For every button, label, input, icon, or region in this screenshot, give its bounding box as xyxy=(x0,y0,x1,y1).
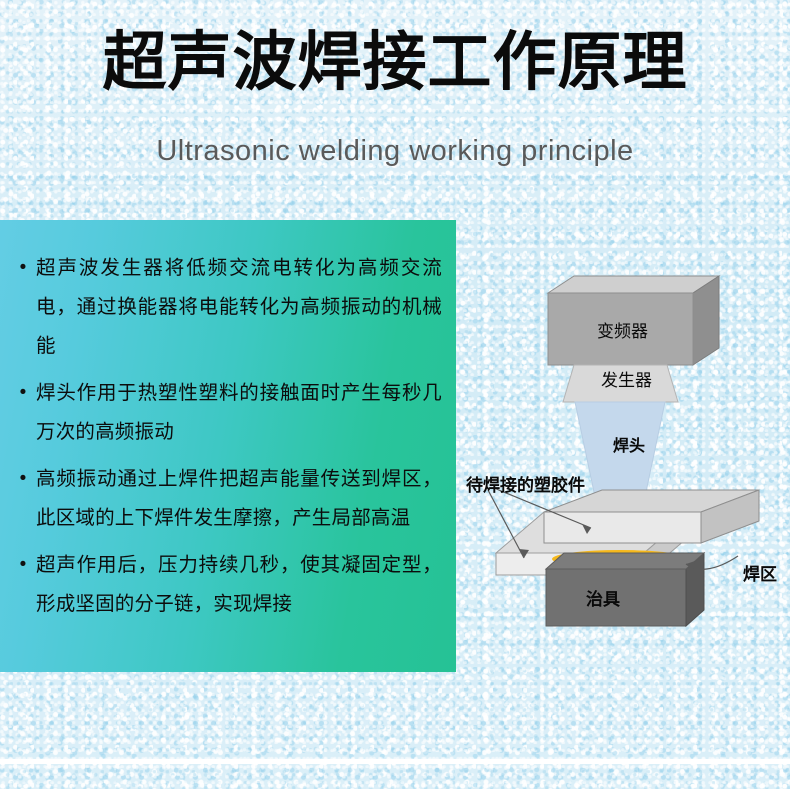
bullet-marker-icon: • xyxy=(10,459,36,498)
bullet-marker-icon: • xyxy=(10,248,36,287)
upper-plastic-plate-shape xyxy=(544,490,759,543)
list-item: • 焊头作用于热塑性塑料的接触面时产生每秒几万次的高频振动 xyxy=(10,373,442,451)
page-title: 超声波焊接工作原理 xyxy=(0,26,790,100)
bottom-white-divider xyxy=(0,759,790,764)
label-generator: 发生器 xyxy=(601,366,652,391)
list-item: • 高频振动通过上焊件把超声能量传送到焊区，此区域的上下焊件发生摩擦，产生局部高… xyxy=(10,459,442,537)
list-item: • 超声作用后，压力持续几秒，使其凝固定型，形成坚固的分子链，实现焊接 xyxy=(10,545,442,623)
list-item: • 超声波发生器将低频交流电转化为高频交流电，通过换能器将电能转化为高频振动的机… xyxy=(10,248,442,365)
label-jig: 治具 xyxy=(586,585,620,610)
label-parts-to-be-welded: 待焊接的塑胶件 xyxy=(466,471,585,496)
bullet-marker-icon: • xyxy=(10,545,36,584)
poster-canvas: 超声波焊接工作原理 Ultrasonic welding working pri… xyxy=(0,0,790,789)
bullet-text: 超声波发生器将低频交流电转化为高频交流电，通过换能器将电能转化为高频振动的机械能 xyxy=(36,248,442,365)
label-weld-zone: 焊区 xyxy=(743,560,777,585)
bullet-text: 焊头作用于热塑性塑料的接触面时产生每秒几万次的高频振动 xyxy=(36,373,442,451)
description-panel: • 超声波发生器将低频交流电转化为高频交流电，通过换能器将电能转化为高频振动的机… xyxy=(0,220,456,672)
bullet-marker-icon: • xyxy=(10,373,36,412)
jig-block-shape xyxy=(546,553,704,626)
bullet-list: • 超声波发生器将低频交流电转化为高频交流电，通过换能器将电能转化为高频振动的机… xyxy=(10,248,442,631)
page-subtitle: Ultrasonic welding working principle xyxy=(0,133,790,169)
label-horn: 焊头 xyxy=(613,432,645,456)
bullet-text: 高频振动通过上焊件把超声能量传送到焊区，此区域的上下焊件发生摩擦，产生局部高温 xyxy=(36,459,442,537)
bullet-text: 超声作用后，压力持续几秒，使其凝固定型，形成坚固的分子链，实现焊接 xyxy=(36,545,442,623)
label-inverter: 变频器 xyxy=(597,317,648,342)
